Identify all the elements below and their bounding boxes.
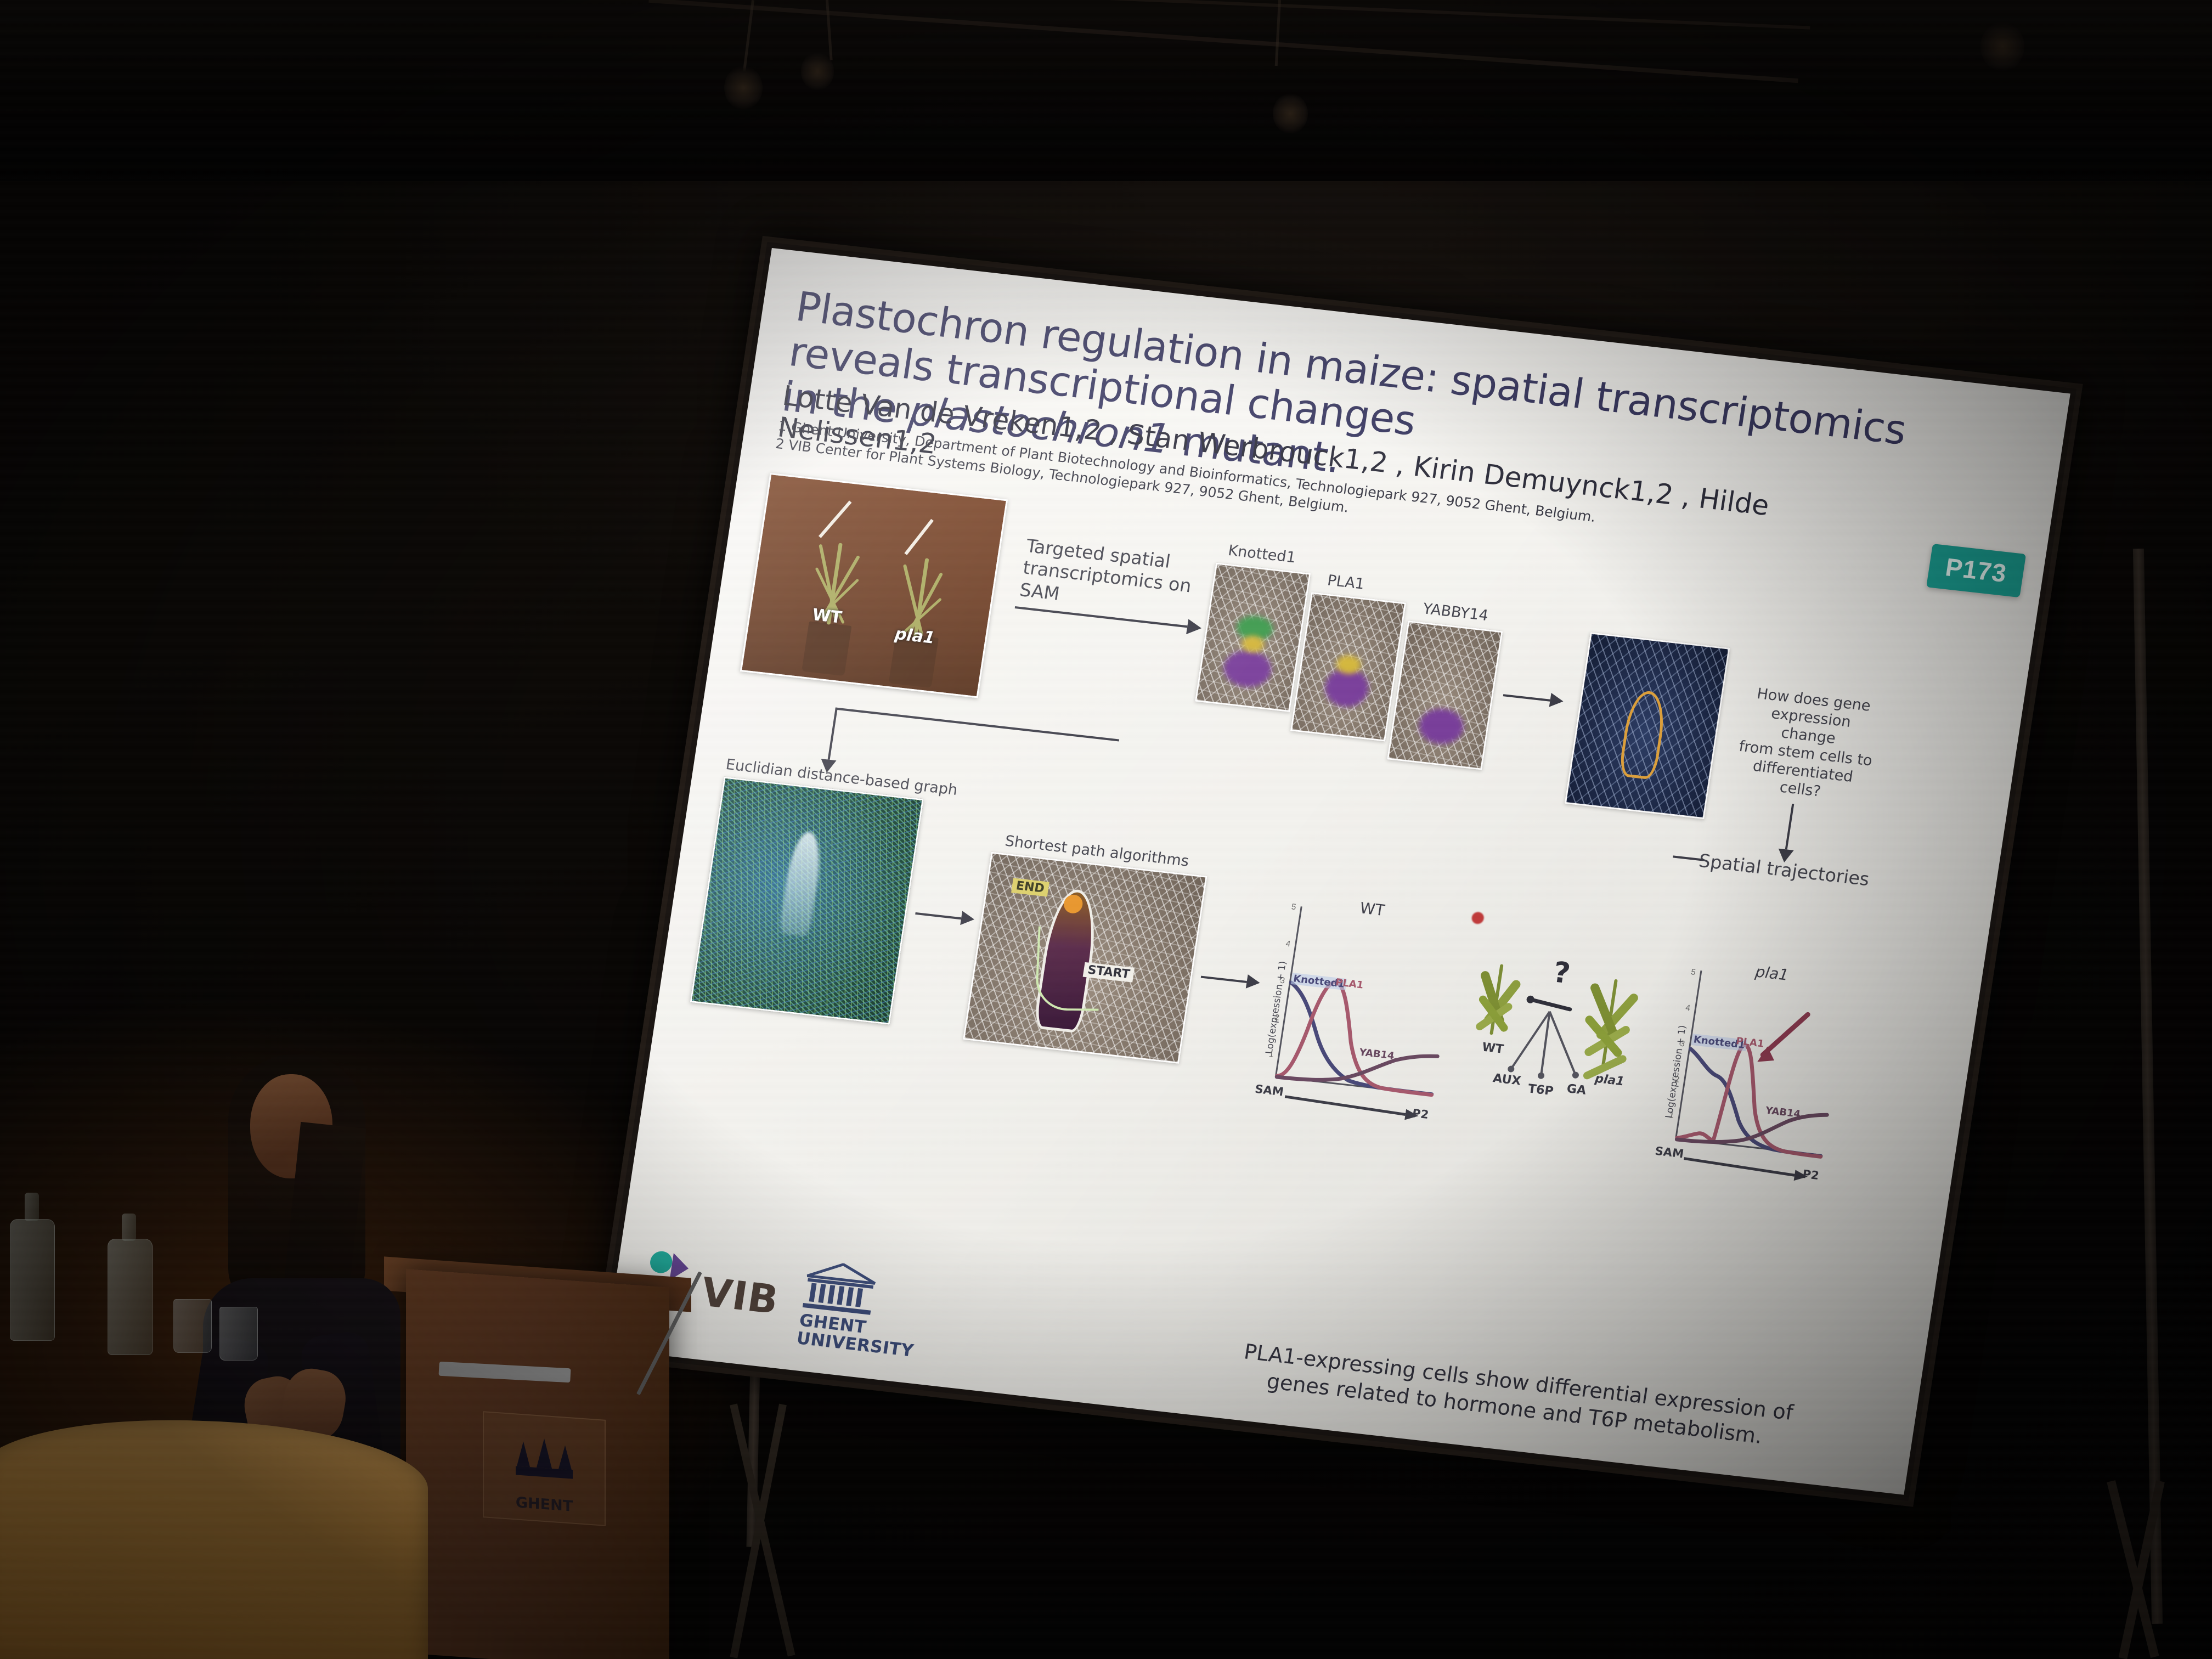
plant-schematic: ? WT bbox=[1449, 950, 1656, 1149]
chart-pla1: pla1 Log(expression + 1) 5 4 3 2 1 bbox=[1647, 954, 1855, 1190]
annotation-arrow-pla1 bbox=[904, 519, 934, 555]
plant-photo: WT pla1 bbox=[740, 473, 1008, 698]
screen-frame: Plastochron regulation in maize: spatial… bbox=[592, 236, 2083, 1507]
drinking-glass-1 bbox=[173, 1299, 212, 1353]
ghent-towers-icon bbox=[511, 1435, 577, 1492]
ceiling-rig bbox=[0, 0, 2212, 181]
ghent-university-logo-text: GHENT UNIVERSITY bbox=[795, 1312, 918, 1360]
stage-light-2 bbox=[801, 52, 834, 91]
elbow-arrow-top bbox=[835, 708, 1119, 742]
stage-light-3 bbox=[1273, 93, 1308, 134]
sam-overview-panel bbox=[1565, 632, 1730, 819]
gene-panel-label-pla1: PLA1 bbox=[1326, 572, 1365, 594]
screen-surface: Plastochron regulation in maize: spatial… bbox=[605, 248, 2070, 1495]
gene-panel-label-yabby14: YABBY14 bbox=[1421, 600, 1489, 625]
lectern-plaque-text: GHENT bbox=[484, 1492, 605, 1517]
arrow-to-gene-panels-head bbox=[1186, 619, 1203, 636]
draped-table bbox=[0, 1413, 428, 1659]
chart-wt: WT Log(expression + 1) 5 4 3 2 1 Knotted… bbox=[1247, 890, 1471, 1128]
arrow-down-trajectories bbox=[1785, 804, 1795, 850]
annotation-arrow-wt bbox=[819, 500, 852, 538]
arrow-euclid-to-path bbox=[915, 912, 961, 919]
slide-conclusion: PLA1-expressing cells show differential … bbox=[1226, 1337, 1807, 1454]
caption-targeted-transcriptomics: Targeted spatial transcriptomics on SAM bbox=[1018, 535, 1203, 620]
stage-light-4 bbox=[1980, 22, 2024, 71]
slide-marker-dot bbox=[1471, 911, 1485, 924]
arrow-to-sam-overview bbox=[1503, 694, 1550, 702]
gene-panel-knotted1 bbox=[1195, 562, 1311, 712]
drinking-glass-2 bbox=[219, 1307, 258, 1361]
plant-label-wt: WT bbox=[811, 605, 843, 628]
water-bottle-1-neck bbox=[25, 1193, 39, 1221]
arrow-euclid-to-path-head bbox=[960, 911, 975, 926]
vib-logo-text: VIB bbox=[698, 1269, 782, 1323]
tissue-texture bbox=[1389, 622, 1501, 768]
euclidian-graph-panel bbox=[690, 777, 924, 1025]
poster-number-badge: P173 bbox=[1926, 544, 2026, 597]
water-bottle-1 bbox=[10, 1219, 55, 1341]
schematic-factor-ga: GA bbox=[1566, 1082, 1587, 1098]
arrow-to-sam-overview-head bbox=[1549, 693, 1565, 708]
water-bottle-2 bbox=[108, 1239, 153, 1355]
schematic-factor-t6p: T6P bbox=[1527, 1082, 1554, 1098]
caption-research-question: How does gene expression change from ste… bbox=[1731, 684, 1883, 806]
auditorium-photo: Plastochron regulation in maize: spatial… bbox=[0, 0, 2212, 1659]
presentation-slide: Plastochron regulation in maize: spatial… bbox=[605, 248, 2070, 1495]
schematic-arrows bbox=[1449, 950, 1656, 1149]
ghent-university-logo: GHENT UNIVERSITY bbox=[799, 1259, 922, 1324]
gene-panel-label-knotted1: Knotted1 bbox=[1227, 542, 1297, 567]
lectern-plaque: GHENT bbox=[483, 1411, 606, 1526]
shortest-path-panel: END START bbox=[963, 852, 1207, 1064]
gene-panel-yabby14 bbox=[1387, 620, 1503, 770]
ghent-temple-icon bbox=[800, 1259, 879, 1317]
schematic-label-wt: WT bbox=[1481, 1041, 1505, 1057]
gene-panel-pla1 bbox=[1290, 592, 1406, 742]
stage-light-1 bbox=[724, 66, 763, 110]
water-bottle-2-neck bbox=[122, 1214, 136, 1241]
pot-wt bbox=[802, 621, 851, 676]
arrow-path-to-chart bbox=[1201, 976, 1247, 983]
arrow-path-to-chart-head bbox=[1246, 974, 1261, 990]
projection-screen: Plastochron regulation in maize: spatial… bbox=[575, 236, 2159, 1629]
elbow-arrow-vert bbox=[828, 708, 838, 760]
